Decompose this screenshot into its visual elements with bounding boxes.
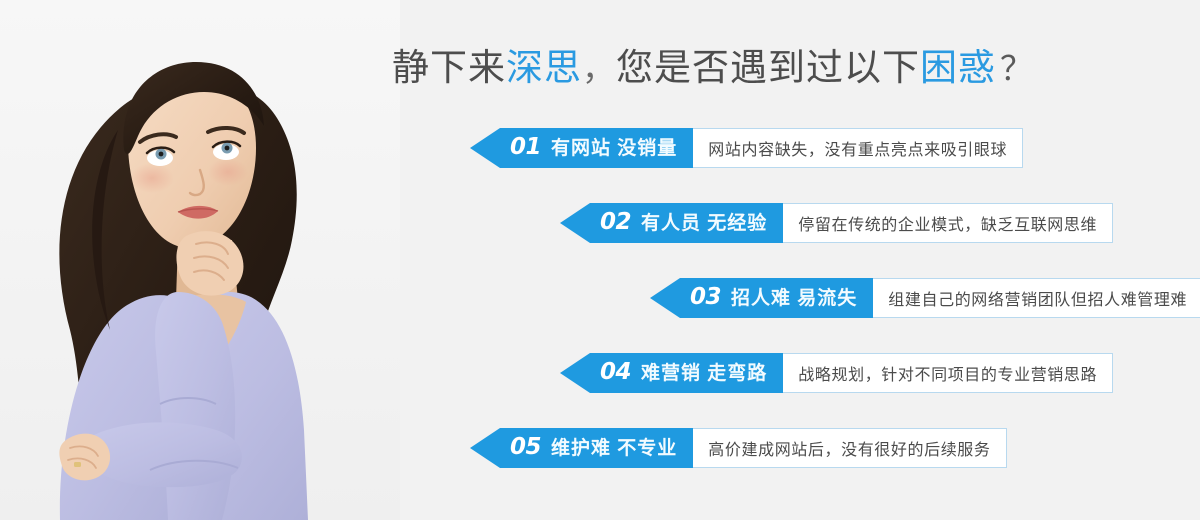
chevron-left-icon (560, 353, 590, 393)
problem-title: 招人难 易流失 (731, 289, 857, 308)
headline-accent-1: 深思 (506, 47, 582, 88)
chevron-left-icon (470, 428, 500, 468)
page-title: 静下来深思，您是否遇到过以下困惑？ (392, 40, 1034, 96)
problem-title: 维护难 不专业 (551, 439, 677, 458)
problem-row-02[interactable]: 02 有人员 无经验 停留在传统的企业模式，缺乏互联网思维 (560, 203, 1113, 243)
problem-description: 网站内容缺失，没有重点亮点来吸引眼球 (693, 128, 1023, 168)
problem-number: 03 (690, 286, 721, 309)
problem-row-03[interactable]: 03 招人难 易流失 组建自己的网络营销团队但招人难管理难 (650, 278, 1200, 318)
headline-part-1: 静下来 (392, 47, 506, 88)
problem-tag: 01 有网站 没销量 (500, 128, 693, 168)
problem-tag: 05 维护难 不专业 (500, 428, 693, 468)
chevron-left-icon (560, 203, 590, 243)
problem-title: 有网站 没销量 (551, 139, 677, 158)
headline-accent-2: 困惑 (920, 47, 996, 88)
problem-description: 组建自己的网络营销团队但招人难管理难 (873, 278, 1200, 318)
headline-question-mark: ？ (996, 50, 1034, 87)
problem-title: 有人员 无经验 (641, 214, 767, 233)
problem-number: 04 (600, 361, 631, 384)
problem-description: 停留在传统的企业模式，缺乏互联网思维 (783, 203, 1113, 243)
problem-number: 01 (510, 136, 541, 159)
chevron-left-icon (650, 278, 680, 318)
problem-row-04[interactable]: 04 难营销 走弯路 战略规划，针对不同项目的专业营销思路 (560, 353, 1113, 393)
problem-row-05[interactable]: 05 维护难 不专业 高价建成网站后，没有很好的后续服务 (470, 428, 1007, 468)
problem-title: 难营销 走弯路 (641, 364, 767, 383)
problem-row-01[interactable]: 01 有网站 没销量 网站内容缺失，没有重点亮点来吸引眼球 (470, 128, 1023, 168)
chevron-left-icon (470, 128, 500, 168)
problem-tag: 04 难营销 走弯路 (590, 353, 783, 393)
thoughtful-woman-photo (0, 0, 400, 520)
headline-comma: ， (582, 50, 616, 87)
problem-description: 高价建成网站后，没有很好的后续服务 (693, 428, 1006, 468)
woman-illustration (0, 0, 400, 520)
problem-number: 02 (600, 211, 631, 234)
problem-tag: 02 有人员 无经验 (590, 203, 783, 243)
promo-banner: 静下来深思，您是否遇到过以下困惑？ 01 有网站 没销量 网站内容缺失，没有重点… (0, 0, 1200, 520)
problem-tag: 03 招人难 易流失 (680, 278, 873, 318)
problem-number: 05 (510, 436, 541, 459)
problem-description: 战略规划，针对不同项目的专业营销思路 (783, 353, 1113, 393)
headline-part-2: 您是否遇到过以下 (616, 47, 920, 88)
